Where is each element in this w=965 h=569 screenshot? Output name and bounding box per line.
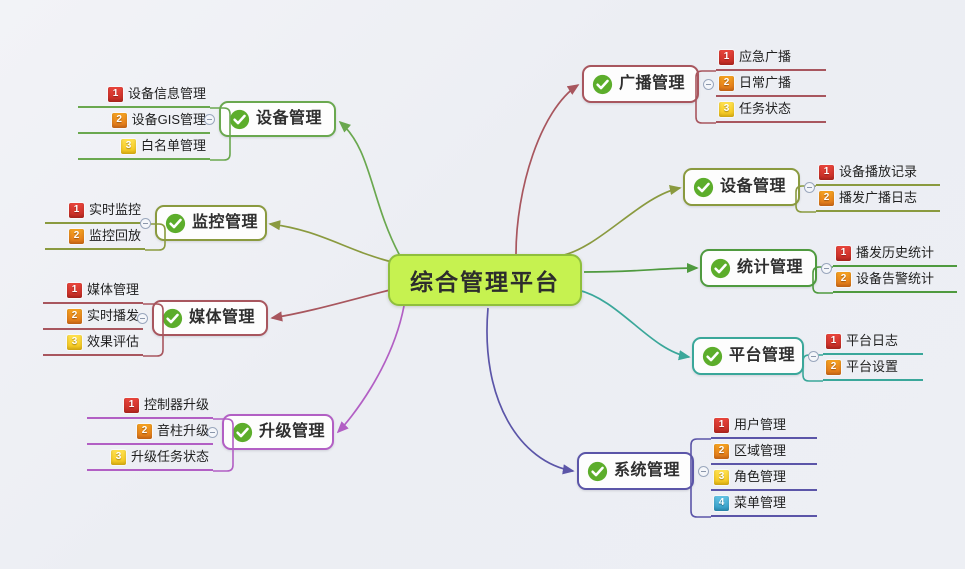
branch-node-label: 平台管理 [729, 348, 795, 364]
leaf-label: 播发广播日志 [839, 191, 917, 206]
leaf-item[interactable]: 3角色管理 [711, 465, 817, 491]
collapse-toggle-stats-mgmt[interactable] [821, 263, 832, 274]
leaf-badge-2: 2 [137, 424, 152, 439]
leaf-group-monitor-mgmt: 1实时监控2监控回放 [45, 198, 145, 250]
leaf-label: 设备告警统计 [856, 272, 934, 287]
leaf-label: 升级任务状态 [131, 450, 209, 465]
leaf-item[interactable]: 4菜单管理 [711, 491, 817, 517]
leaf-badge-2: 2 [819, 191, 834, 206]
collapse-toggle-platform-mgmt[interactable] [808, 351, 819, 362]
leaf-badge-1: 1 [714, 418, 729, 433]
leaf-underline [816, 210, 940, 212]
edge-e-system [487, 308, 573, 471]
mindmap-canvas: 设备管理1设备信息管理2设备GIS管理3白名单管理监控管理1实时监控2监控回放媒… [0, 0, 965, 569]
leaf-group-media-mgmt: 1媒体管理2实时播发3效果评估 [43, 278, 143, 356]
branch-node-label: 广播管理 [619, 76, 685, 92]
branch-node-label: 设备管理 [256, 111, 322, 127]
edge-e-upgrade [338, 306, 404, 432]
check-circle-icon [693, 177, 714, 198]
leaf-label: 控制器升级 [144, 398, 209, 413]
leaf-badge-3: 3 [714, 470, 729, 485]
leaf-label: 媒体管理 [87, 283, 139, 298]
check-circle-icon [587, 461, 608, 482]
leaf-item[interactable]: 1媒体管理 [43, 278, 143, 304]
edge-e-device-left [340, 122, 400, 256]
leaf-item[interactable]: 1实时监控 [45, 198, 145, 224]
leaf-underline [833, 291, 957, 293]
leaf-label: 设备播放记录 [839, 165, 917, 180]
leaf-item[interactable]: 2设备告警统计 [833, 267, 957, 293]
leaf-item[interactable]: 3任务状态 [716, 97, 826, 123]
branch-node-label: 系统管理 [614, 463, 680, 479]
leaf-item[interactable]: 2平台设置 [823, 355, 923, 381]
edge-e-device-right [560, 188, 680, 256]
branch-node-system-mgmt[interactable]: 系统管理 [577, 452, 694, 490]
leaf-badge-2: 2 [719, 76, 734, 91]
root-node[interactable]: 综合管理平台 [388, 254, 582, 306]
leaf-label: 平台日志 [846, 334, 898, 349]
check-circle-icon [702, 346, 723, 367]
leaf-underline [78, 158, 210, 160]
leaf-group-system-mgmt: 1用户管理2区域管理3角色管理4菜单管理 [711, 413, 817, 517]
check-circle-icon [229, 109, 250, 130]
leaf-badge-3: 3 [67, 335, 82, 350]
leaf-item[interactable]: 3升级任务状态 [87, 445, 213, 471]
branch-node-label: 统计管理 [737, 260, 803, 276]
collapse-toggle-device-mgmt-left[interactable] [204, 114, 215, 125]
leaf-label: 设备信息管理 [128, 87, 206, 102]
leaf-item[interactable]: 2播发广播日志 [816, 186, 940, 212]
leaf-item[interactable]: 1控制器升级 [87, 393, 213, 419]
leaf-item[interactable]: 2实时播发 [43, 304, 143, 330]
leaf-item[interactable]: 2监控回放 [45, 224, 145, 250]
leaf-item[interactable]: 1设备信息管理 [78, 82, 210, 108]
leaf-underline [711, 515, 817, 517]
leaf-item[interactable]: 2音柱升级 [87, 419, 213, 445]
root-node-label: 综合管理平台 [410, 263, 560, 297]
leaf-badge-1: 1 [826, 334, 841, 349]
leaf-group-upgrade-mgmt: 1控制器升级2音柱升级3升级任务状态 [87, 393, 213, 471]
branch-node-platform-mgmt[interactable]: 平台管理 [692, 337, 804, 375]
leaf-label: 音柱升级 [157, 424, 209, 439]
branch-node-device-mgmt-right[interactable]: 设备管理 [683, 168, 800, 206]
leaf-badge-1: 1 [108, 87, 123, 102]
edge-e-platform [578, 290, 689, 357]
leaf-badge-3: 3 [121, 139, 136, 154]
collapse-toggle-monitor-mgmt[interactable] [140, 218, 151, 229]
edge-e-media [272, 290, 390, 318]
leaf-badge-1: 1 [719, 50, 734, 65]
leaf-label: 平台设置 [846, 360, 898, 375]
collapse-toggle-device-mgmt-right[interactable] [804, 182, 815, 193]
leaf-item[interactable]: 3效果评估 [43, 330, 143, 356]
branch-node-device-mgmt-left[interactable]: 设备管理 [219, 101, 336, 137]
leaf-item[interactable]: 2日常广播 [716, 71, 826, 97]
leaf-group-device-mgmt-left: 1设备信息管理2设备GIS管理3白名单管理 [78, 82, 210, 160]
branch-node-label: 设备管理 [720, 179, 786, 195]
leaf-item[interactable]: 1播发历史统计 [833, 241, 957, 267]
leaf-group-platform-mgmt: 1平台日志2平台设置 [823, 329, 923, 381]
leaf-group-stats-mgmt: 1播发历史统计2设备告警统计 [833, 241, 957, 293]
leaf-badge-2: 2 [67, 309, 82, 324]
leaf-underline [823, 379, 923, 381]
leaf-label: 播发历史统计 [856, 246, 934, 261]
leaf-item[interactable]: 1用户管理 [711, 413, 817, 439]
branch-node-monitor-mgmt[interactable]: 监控管理 [155, 205, 267, 241]
branch-node-broadcast-mgmt[interactable]: 广播管理 [582, 65, 699, 103]
collapse-toggle-broadcast-mgmt[interactable] [703, 79, 714, 90]
branch-node-label: 监控管理 [192, 215, 258, 231]
collapse-toggle-upgrade-mgmt[interactable] [207, 427, 218, 438]
leaf-label: 效果评估 [87, 335, 139, 350]
check-circle-icon [710, 258, 731, 279]
leaf-badge-3: 3 [111, 450, 126, 465]
leaf-underline [87, 469, 213, 471]
leaf-badge-2: 2 [69, 229, 84, 244]
leaf-badge-1: 1 [67, 283, 82, 298]
leaf-label: 菜单管理 [734, 496, 786, 511]
branch-node-stats-mgmt[interactable]: 统计管理 [700, 249, 817, 287]
edge-e-monitor [270, 224, 392, 262]
leaf-item[interactable]: 1平台日志 [823, 329, 923, 355]
leaf-badge-1: 1 [836, 246, 851, 261]
branch-node-media-mgmt[interactable]: 媒体管理 [152, 300, 268, 336]
leaf-group-device-mgmt-right: 1设备播放记录2播发广播日志 [816, 160, 940, 212]
leaf-badge-1: 1 [819, 165, 834, 180]
leaf-label: 实时播发 [87, 309, 139, 324]
leaf-label: 应急广播 [739, 50, 791, 65]
leaf-badge-2: 2 [826, 360, 841, 375]
leaf-badge-3: 3 [719, 102, 734, 117]
leaf-label: 实时监控 [89, 203, 141, 218]
leaf-badge-2: 2 [836, 272, 851, 287]
leaf-underline [45, 248, 145, 250]
leaf-badge-1: 1 [124, 398, 139, 413]
leaf-group-broadcast-mgmt: 1应急广播2日常广播3任务状态 [716, 45, 826, 123]
leaf-label: 监控回放 [89, 229, 141, 244]
leaf-label: 日常广播 [739, 76, 791, 91]
leaf-underline [716, 121, 826, 123]
collapse-toggle-media-mgmt[interactable] [137, 313, 148, 324]
leaf-label: 白名单管理 [141, 139, 206, 154]
leaf-underline [43, 354, 143, 356]
leaf-label: 任务状态 [739, 102, 791, 117]
check-circle-icon [162, 308, 183, 329]
check-circle-icon [592, 74, 613, 95]
leaf-item[interactable]: 2区域管理 [711, 439, 817, 465]
leaf-badge-2: 2 [714, 444, 729, 459]
edge-e-stats [584, 268, 697, 272]
leaf-item[interactable]: 2设备GIS管理 [78, 108, 210, 134]
branch-node-label: 升级管理 [259, 424, 325, 440]
leaf-label: 区域管理 [734, 444, 786, 459]
branch-node-label: 媒体管理 [189, 310, 255, 326]
leaf-item[interactable]: 1应急广播 [716, 45, 826, 71]
leaf-label: 用户管理 [734, 418, 786, 433]
edge-e-broadcast [516, 85, 578, 254]
leaf-label: 角色管理 [734, 470, 786, 485]
leaf-badge-4: 4 [714, 496, 729, 511]
leaf-item[interactable]: 1设备播放记录 [816, 160, 940, 186]
check-circle-icon [165, 213, 186, 234]
leaf-label: 设备GIS管理 [132, 113, 206, 128]
leaf-badge-2: 2 [112, 113, 127, 128]
check-circle-icon [232, 422, 253, 443]
leaf-item[interactable]: 3白名单管理 [78, 134, 210, 160]
branch-node-upgrade-mgmt[interactable]: 升级管理 [222, 414, 334, 450]
collapse-toggle-system-mgmt[interactable] [698, 466, 709, 477]
leaf-badge-1: 1 [69, 203, 84, 218]
